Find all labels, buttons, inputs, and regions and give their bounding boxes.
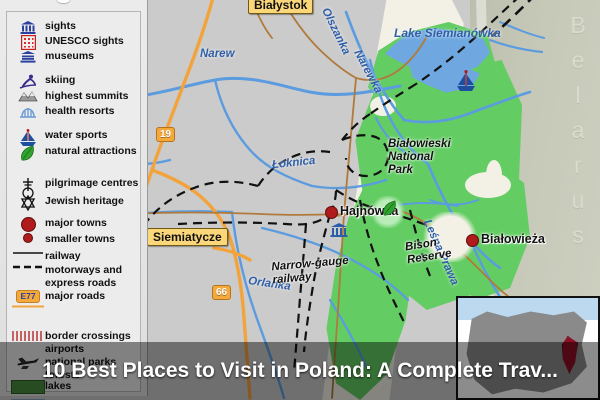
town-label-bialystok[interactable]: Białystok [248, 0, 313, 14]
belarus-letter: l [558, 78, 598, 113]
railway-line-icon [11, 250, 45, 256]
legend-label: skiing [45, 74, 75, 87]
country-label-belarus: B e l a r u s [558, 8, 598, 253]
town-label-siemiatycze[interactable]: Siemiatycze [147, 228, 228, 246]
legend-text-border-crossings: border crossings [45, 330, 131, 343]
legend-title: Legend [8, 0, 140, 6]
legend-label: railway [45, 250, 81, 263]
river-label-olszanka: Olszanka [319, 6, 352, 57]
museum-icon[interactable] [330, 222, 348, 238]
road-shield-text: E77 [16, 290, 39, 303]
river-label-loknica: Łoknica [271, 155, 315, 171]
legend-text-museums: museums [45, 50, 94, 63]
legend-text-express: express roads [45, 277, 122, 290]
legend-item-smaller-towns[interactable]: smaller towns [11, 233, 115, 246]
legend-item-natural-attractions[interactable]: natural attractions [11, 145, 137, 161]
legend-text-natural: natural attractions [45, 145, 137, 158]
lake-label-siemianowka: Lake Siemianówka [394, 26, 501, 40]
town-label-bialowieza[interactable]: Białowieża [481, 232, 545, 246]
road-shield-66[interactable]: 66 [212, 285, 231, 300]
legend-label: water sports [45, 129, 107, 142]
legend-text-major-towns: major towns [45, 217, 107, 230]
belarus-letter: B [558, 8, 598, 43]
town-dot-bialowieza[interactable] [466, 234, 479, 247]
map-screenshot: Białystok Siemiatycze Hajnówka Białowież… [0, 0, 600, 400]
legend-label: smaller towns [45, 233, 115, 246]
sailboat-icon[interactable] [455, 70, 477, 94]
legend-label: motorways and express roads [45, 264, 122, 289]
legend-item-health-resorts[interactable]: health resorts [11, 105, 114, 119]
legend-item-motorways[interactable]: motorways and express roads [11, 264, 122, 289]
legend-text-summits: highest summits [45, 90, 128, 103]
forest-clearing [370, 96, 396, 116]
river-label-narew: Narew [200, 48, 235, 60]
legend-item-highest-summits[interactable]: highest summits [11, 90, 128, 103]
legend-item-major-towns[interactable]: major towns [11, 217, 107, 232]
dashed-line-icon [11, 264, 45, 270]
legend-item-railway[interactable]: railway [11, 250, 81, 263]
legend-body: sights UNESCO sights [6, 11, 141, 392]
video-title: 10 Best Places to Visit in Poland: A Com… [0, 342, 600, 400]
legend-text-sights: sights [45, 20, 76, 33]
health-resort-icon [11, 105, 45, 119]
green-leaf-icon[interactable] [382, 200, 398, 218]
legend-item-jewish-heritage[interactable]: Jewish heritage [11, 195, 124, 211]
legend-item-orange-road-line[interactable] [11, 304, 45, 309]
legend-label: Jewish heritage [45, 195, 124, 208]
legend-panel[interactable]: Legend sights [0, 0, 148, 396]
legend-label: major towns [45, 217, 107, 230]
legend-text-water-sports: water sports [45, 129, 107, 142]
road-shield-e77-icon: E77 [11, 290, 45, 303]
np-line-1: Białowieski [388, 138, 451, 151]
legend-label: natural attractions [45, 145, 137, 158]
legend-label: highest summits [45, 90, 128, 103]
belarus-letter: u [558, 183, 598, 218]
museum-icon [11, 50, 45, 64]
skier-icon [11, 74, 45, 90]
belarus-letter: s [558, 218, 598, 253]
legend-text-major-roads: major roads [45, 290, 105, 303]
legend-item-unesco-sights[interactable]: UNESCO sights [11, 35, 124, 50]
legend-text-railway: railway [45, 250, 81, 263]
legend-label: sights [45, 20, 76, 33]
legend-item-skiing[interactable]: skiing [11, 74, 75, 90]
road-shield-19[interactable]: 19 [156, 127, 175, 142]
belarus-letter: r [558, 148, 598, 183]
mountain-peak-icon [11, 90, 45, 102]
legend-text-motorways: motorways and [45, 264, 122, 277]
border-crossing-icon [11, 330, 45, 342]
legend-text-jewish: Jewish heritage [45, 195, 124, 208]
legend-text-unesco: UNESCO sights [45, 35, 124, 48]
legend-label: museums [45, 50, 94, 63]
large-red-dot-icon [11, 217, 45, 232]
legend-label: pilgrimage centres [45, 177, 138, 190]
legend-text-health: health resorts [45, 105, 114, 118]
legend-label: UNESCO sights [45, 35, 124, 48]
legend-item-major-roads[interactable]: E77 major roads [11, 290, 105, 303]
green-leaf-icon [11, 145, 45, 161]
legend-item-museums[interactable]: museums [11, 50, 94, 64]
classical-building-icon [11, 20, 45, 35]
orange-line-icon [11, 304, 45, 309]
legend-label: health resorts [45, 105, 114, 118]
small-red-dot-icon [11, 233, 45, 243]
legend-text-smaller-towns: smaller towns [45, 233, 115, 246]
np-line-3: Park [388, 164, 451, 177]
forest-clearing [486, 160, 502, 190]
legend-item-sights[interactable]: sights [11, 20, 76, 35]
legend-text-pilgrimage: pilgrimage centres [45, 177, 138, 190]
belarus-letter: a [558, 113, 598, 148]
star-of-david-icon [11, 195, 45, 211]
legend-label: major roads [45, 290, 105, 303]
np-line-2: National [388, 151, 451, 164]
unesco-square-icon [11, 35, 45, 50]
legend-text-skiing: skiing [45, 74, 75, 87]
belarus-letter: e [558, 43, 598, 78]
town-dot-hajnowka[interactable] [325, 206, 338, 219]
area-label-bialowieski-national-park: Białowieski National Park [388, 138, 451, 177]
